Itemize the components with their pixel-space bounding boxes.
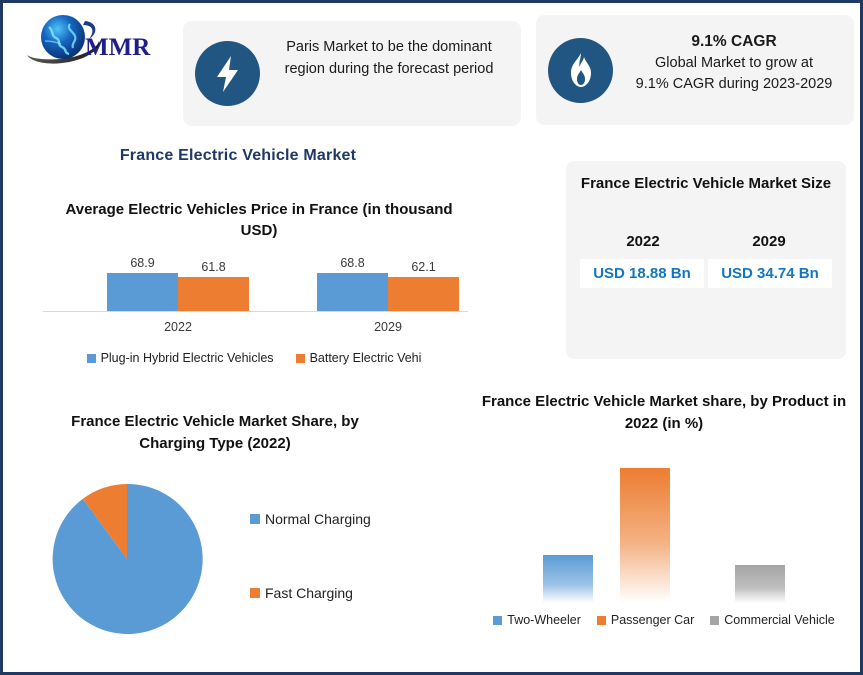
bar-2022-phev: 68.9 [107,273,178,311]
flame-icon [548,38,613,103]
legend-swatch-blue-icon [250,514,260,524]
legend-label-two-wheeler: Two-Wheeler [507,613,581,627]
product-share-chart-title: France Electric Vehicle Market share, by… [477,391,851,435]
x-axis-baseline [43,311,468,312]
infographic-canvas: MMR Paris Market to be the dominant regi… [0,0,863,675]
header-row: MMR Paris Market to be the dominant regi… [3,3,863,133]
avg-price-legend: Plug-in Hybrid Electric Vehicles Battery… [29,351,479,365]
legend-item-passenger-car[interactable]: Passenger Car [597,613,694,627]
charging-type-legend: Normal Charging Fast Charging [250,511,371,659]
market-size-title: France Electric Vehicle Market Size [580,173,832,194]
bar-2029-phev: 68.8 [317,273,388,311]
bar-two-wheeler [543,555,593,603]
market-size-values: USD 18.88 Bn USD 34.74 Bn [580,259,832,288]
legend-label-fast-charging: Fast Charging [265,585,353,601]
charging-type-pie-chart: France Electric Vehicle Market Share, by… [25,411,455,656]
legend-swatch-orange-icon [250,588,260,598]
header-card-cagr: 9.1% CAGR Global Market to grow at 9.1% … [536,15,854,125]
bar-label-2029-phev: 68.8 [317,256,388,273]
bar-passenger-car [620,468,670,603]
product-share-plot-area [465,453,863,603]
market-size-panel: France Electric Vehicle Market Size 2022… [566,161,846,359]
market-size-year-2029: 2029 [706,233,832,250]
market-size-years: 2022 2029 [580,233,832,250]
legend-label-bev: Battery Electric Vehi [310,351,422,365]
legend-item-phev[interactable]: Plug-in Hybrid Electric Vehicles [87,351,274,365]
bar-label-2022-phev: 68.9 [107,256,178,273]
legend-swatch-grey-icon [710,616,719,625]
charging-type-chart-title: France Electric Vehicle Market Share, by… [50,411,380,455]
market-size-year-2022: 2022 [580,233,706,250]
legend-label-commercial-vehicle: Commercial Vehicle [724,613,834,627]
legend-item-commercial-vehicle[interactable]: Commercial Vehicle [710,613,834,627]
pie-plot-area [47,479,207,644]
legend-item-fast-charging[interactable]: Fast Charging [250,585,371,601]
product-share-legend: Two-Wheeler Passenger Car Commercial Veh… [465,613,863,627]
legend-label-normal-charging: Normal Charging [265,511,371,527]
paris-market-text: Paris Market to be the dominant region d… [269,36,509,81]
mmr-globe-logo: MMR [23,11,168,73]
lightning-bolt-icon [195,41,260,106]
cagr-line-1: Global Market to grow at [620,53,848,74]
logo-text: MMR [85,34,151,61]
legend-item-two-wheeler[interactable]: Two-Wheeler [493,613,581,627]
legend-item-bev[interactable]: Battery Electric Vehi [296,351,422,365]
legend-swatch-orange-icon [296,354,305,363]
cagr-headline: 9.1% CAGR [620,31,848,53]
cagr-line-2: 9.1% CAGR during 2023-2029 [620,74,848,95]
avg-price-bar-chart: Average Electric Vehicles Price in Franc… [29,199,479,379]
bar-2029-bev: 62.1 [388,277,459,311]
cagr-text-block: 9.1% CAGR Global Market to grow at 9.1% … [620,31,848,96]
legend-label-passenger-car: Passenger Car [611,613,694,627]
legend-swatch-blue-icon [493,616,502,625]
legend-swatch-orange-icon [597,616,606,625]
legend-swatch-blue-icon [87,354,96,363]
header-card-paris: Paris Market to be the dominant region d… [183,21,521,126]
x-tick-2022: 2022 [107,320,249,334]
bar-2022-bev: 61.8 [178,277,249,311]
x-tick-2029: 2029 [317,320,459,334]
avg-price-chart-title: Average Electric Vehicles Price in Franc… [49,199,469,242]
product-share-bar-chart: France Electric Vehicle Market share, by… [465,391,863,641]
market-size-value-2029: USD 34.74 Bn [708,259,832,288]
avg-price-plot-area: 68.9 61.8 68.8 62.1 2022 2029 [29,259,479,334]
legend-item-normal-charging[interactable]: Normal Charging [250,511,371,527]
bar-commercial-vehicle [735,565,785,603]
page-title: France Electric Vehicle Market [33,147,443,165]
bar-label-2022-bev: 61.8 [178,260,249,277]
bar-label-2029-bev: 62.1 [388,260,459,277]
legend-label-phev: Plug-in Hybrid Electric Vehicles [101,351,274,365]
pie-slice-normal-charging [53,484,203,634]
market-size-value-2022: USD 18.88 Bn [580,259,704,288]
